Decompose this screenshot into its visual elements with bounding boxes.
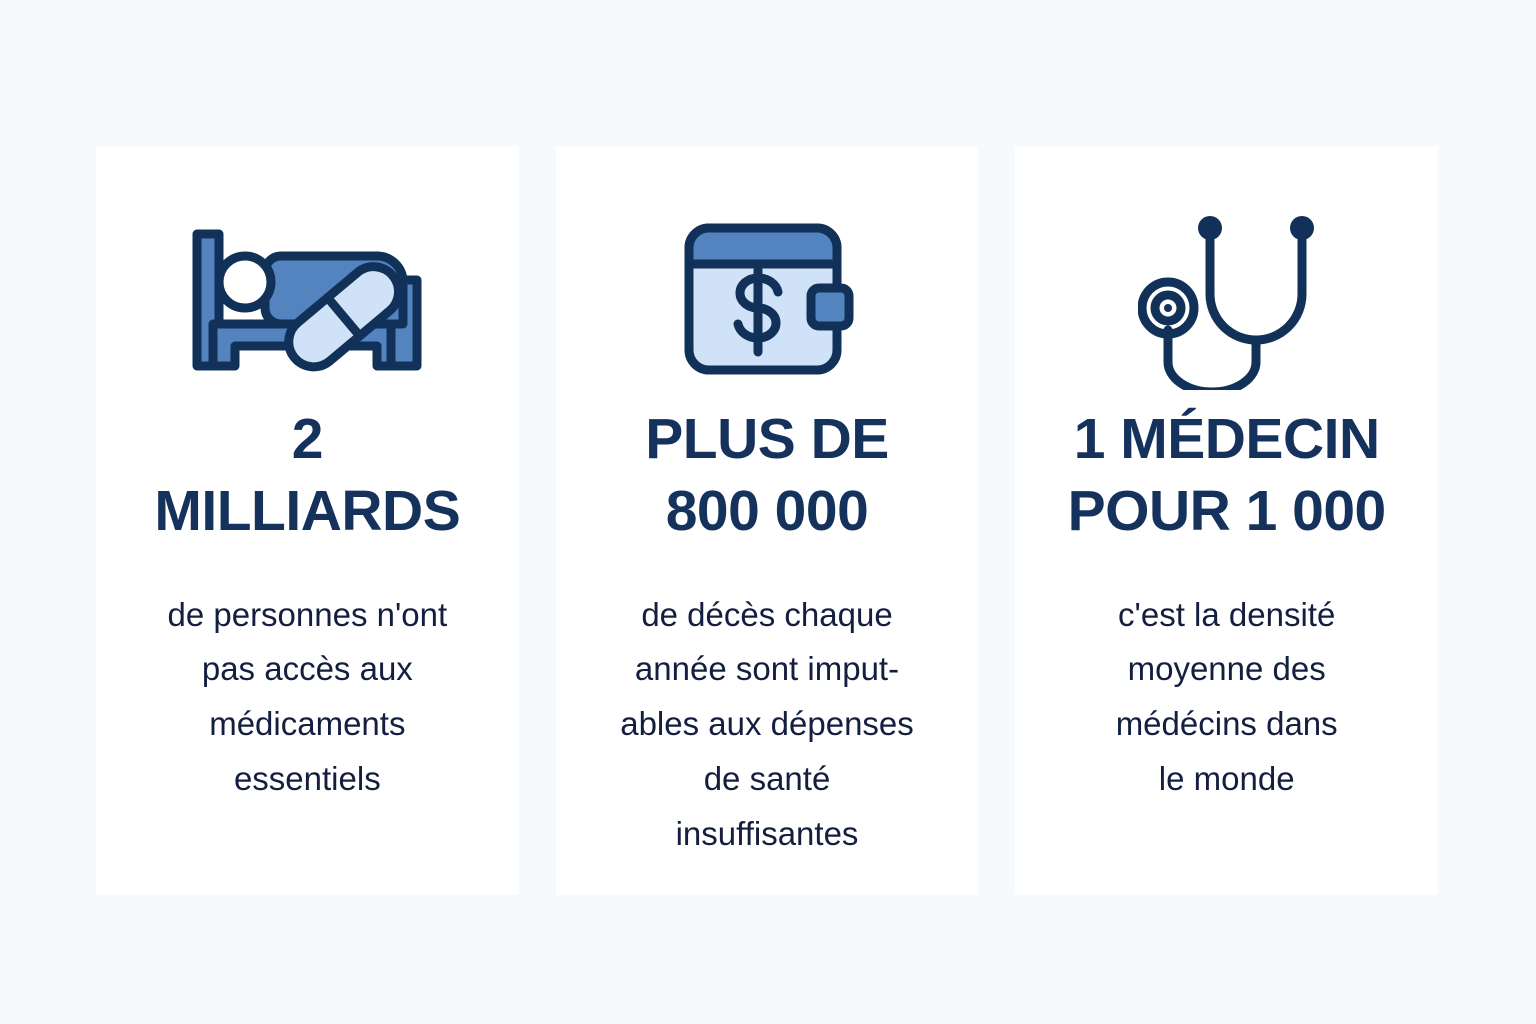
stat-headline-line: 800 000: [556, 476, 979, 548]
stat-card-doctors: 1 MÉDECIN POUR 1 000 c'est la densité mo…: [1015, 146, 1438, 895]
stat-description-line: le monde: [1015, 752, 1438, 807]
stat-description-line: médécins dans: [1015, 697, 1438, 752]
wallet-dollar-icon: [679, 202, 855, 398]
stat-description-line: insuffisantes: [556, 807, 979, 862]
stat-description-line: de décès chaque: [556, 588, 979, 643]
stat-card-medicines: 2 MILLIARDS de personnes n'ont pas accès…: [96, 146, 519, 895]
stat-description-line: moyenne des: [1015, 642, 1438, 697]
stat-description-line: c'est la densité: [1015, 588, 1438, 643]
stat-headline: 1 MÉDECIN POUR 1 000: [1015, 404, 1438, 548]
bed-with-pill-icon: [183, 202, 431, 398]
stat-description-line: année sont imput-: [556, 642, 979, 697]
stat-headline-line: PLUS DE: [556, 404, 979, 476]
stat-description-line: ables aux dépenses: [556, 697, 979, 752]
stat-description-line: de santé: [556, 752, 979, 807]
stat-description-line: médicaments: [96, 697, 519, 752]
stat-headline-line: POUR 1 000: [1015, 476, 1438, 548]
stat-description-line: de personnes n'ont: [96, 588, 519, 643]
infographic-page: 2 MILLIARDS de personnes n'ont pas accès…: [0, 0, 1536, 1024]
stat-description: de personnes n'ont pas accès aux médicam…: [96, 588, 519, 807]
stat-headline-line: 1 MÉDECIN: [1015, 404, 1438, 476]
stethoscope-icon: [1138, 202, 1316, 398]
stat-description: de décès chaque année sont imput- ables …: [556, 588, 979, 862]
stat-headline: 2 MILLIARDS: [96, 404, 519, 548]
stat-description-line: essentiels: [96, 752, 519, 807]
stat-headline-line: MILLIARDS: [96, 476, 519, 548]
stat-card-deaths: PLUS DE 800 000 de décès chaque année so…: [556, 146, 979, 895]
stat-card-row: 2 MILLIARDS de personnes n'ont pas accès…: [96, 146, 1438, 895]
stat-headline-line: 2: [96, 404, 519, 476]
stat-description-line: pas accès aux: [96, 642, 519, 697]
stat-headline: PLUS DE 800 000: [556, 404, 979, 548]
stat-description: c'est la densité moyenne des médécins da…: [1015, 588, 1438, 807]
